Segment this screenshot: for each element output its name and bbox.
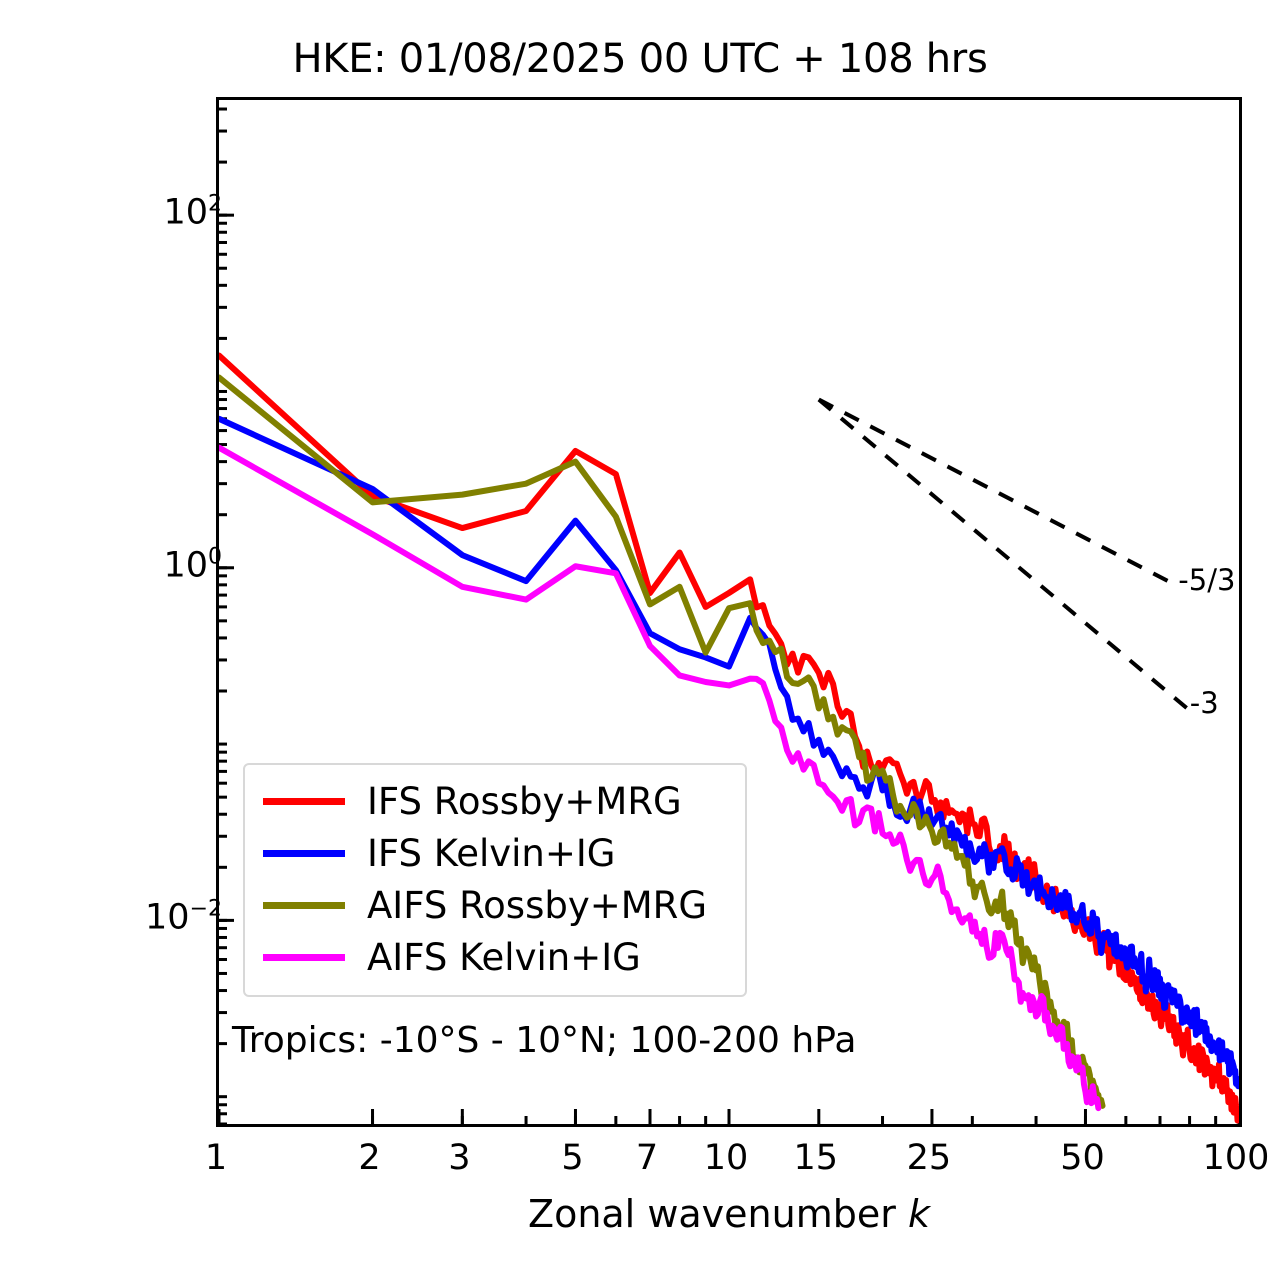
legend-label-ifs-rossby-mrg: IFS Rossby+MRG bbox=[367, 783, 682, 820]
legend-swatch-ifs-rossby-mrg bbox=[263, 798, 345, 805]
legend-item-ifs-kelvin-ig[interactable]: IFS Kelvin+IG bbox=[245, 827, 745, 879]
data-series-group bbox=[219, 355, 1239, 1120]
legend-swatch-ifs-kelvin-ig bbox=[263, 850, 345, 857]
reference-line bbox=[819, 400, 1187, 709]
slope-label: -3 bbox=[1190, 686, 1219, 720]
x-tick-label: 7 bbox=[636, 1138, 658, 1178]
x-axis-label-text: Zonal wavenumber bbox=[528, 1192, 908, 1236]
x-tick-label: 2 bbox=[358, 1138, 380, 1178]
legend-item-ifs-rossby-mrg[interactable]: IFS Rossby+MRG bbox=[245, 775, 745, 827]
x-tick-label: 25 bbox=[907, 1138, 952, 1178]
reference-line bbox=[819, 400, 1175, 585]
legend-box: IFS Rossby+MRG IFS Kelvin+IG AIFS Rossby… bbox=[243, 763, 747, 997]
x-axis-label: Zonal wavenumber k bbox=[528, 1192, 930, 1236]
x-tick-label: 5 bbox=[561, 1138, 583, 1178]
legend-item-aifs-kelvin-ig[interactable]: AIFS Kelvin+IG bbox=[245, 931, 745, 983]
y-tick-label: 102 bbox=[163, 192, 222, 233]
legend-label-aifs-rossby-mrg: AIFS Rossby+MRG bbox=[367, 887, 707, 924]
y-tick-label: 10−2 bbox=[145, 897, 222, 938]
x-tick-label: 3 bbox=[448, 1138, 470, 1178]
x-tick-label: 10 bbox=[704, 1138, 749, 1178]
x-tick-label: 50 bbox=[1060, 1138, 1105, 1178]
figure-canvas: HKE: 01/08/2025 00 UTC + 108 hrs Horizon… bbox=[0, 0, 1280, 1288]
x-tick-label: 100 bbox=[1203, 1138, 1270, 1178]
chart-title: HKE: 01/08/2025 00 UTC + 108 hrs bbox=[0, 36, 1280, 82]
x-axis-label-wrapper: Zonal wavenumber k bbox=[216, 1192, 1242, 1236]
slope-label: -5/3 bbox=[1178, 563, 1235, 597]
x-tick-label: 1 bbox=[205, 1138, 227, 1178]
region-annotation: Tropics: -10°S - 10°N; 100-200 hPa bbox=[232, 1020, 856, 1061]
series-line bbox=[219, 355, 1239, 1120]
legend-swatch-aifs-kelvin-ig bbox=[263, 954, 345, 961]
legend-label-ifs-kelvin-ig: IFS Kelvin+IG bbox=[367, 835, 615, 872]
x-tick-label: 15 bbox=[794, 1138, 839, 1178]
legend-item-aifs-rossby-mrg[interactable]: AIFS Rossby+MRG bbox=[245, 879, 745, 931]
legend-swatch-aifs-rossby-mrg bbox=[263, 902, 345, 909]
y-tick-label: 100 bbox=[163, 544, 222, 585]
x-axis-label-symbol: k bbox=[908, 1192, 930, 1236]
legend-label-aifs-kelvin-ig: AIFS Kelvin+IG bbox=[367, 939, 641, 976]
reference-slope-lines bbox=[819, 400, 1187, 709]
